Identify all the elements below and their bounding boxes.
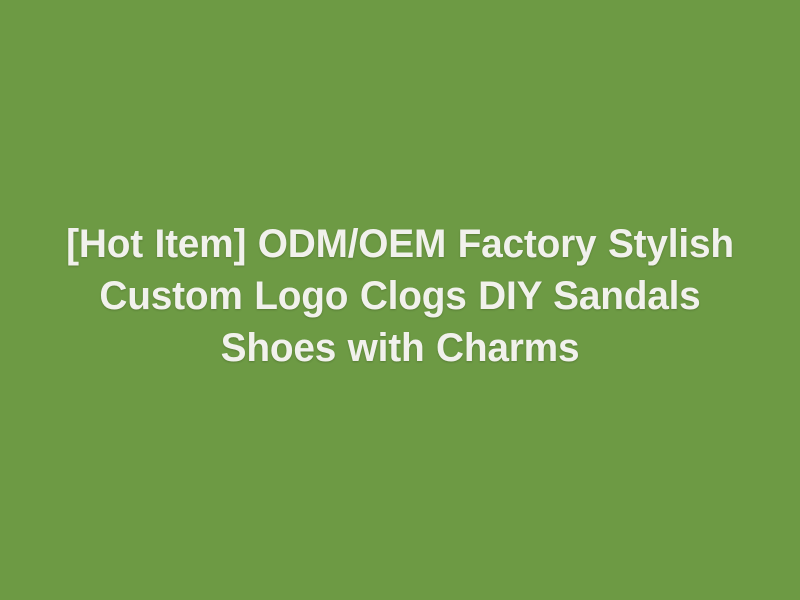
product-title: [Hot Item] ODM/OEM Factory Stylish Custo… [59, 218, 742, 374]
title-block: [Hot Item] ODM/OEM Factory Stylish Custo… [40, 218, 760, 374]
image-placeholder-card: [Hot Item] ODM/OEM Factory Stylish Custo… [0, 0, 800, 600]
